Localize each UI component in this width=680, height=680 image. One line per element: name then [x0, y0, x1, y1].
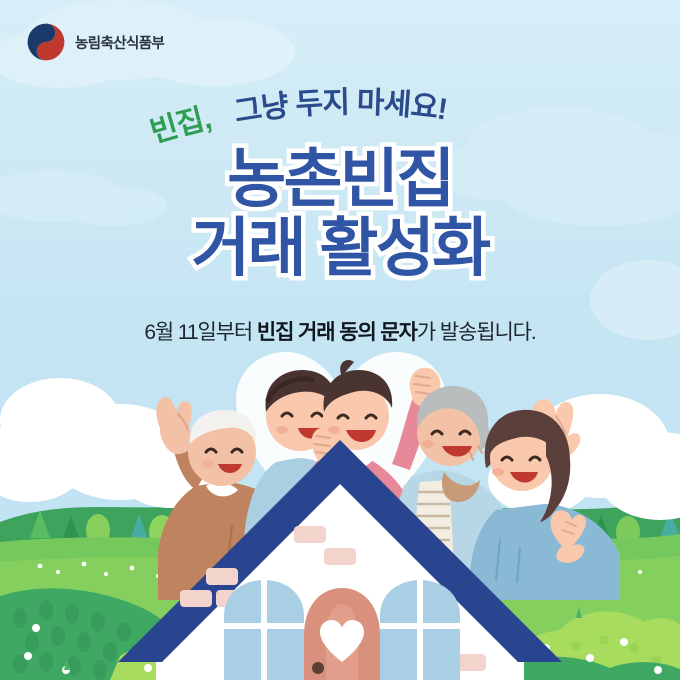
tagline-highlight: 빈집,: [147, 102, 214, 148]
subtitle-suffix: 가 발송됩니다.: [417, 321, 536, 344]
subtitle-bold: 빈집 거래 동의 문자: [257, 321, 417, 344]
window-right: [380, 580, 460, 680]
house-door: [304, 588, 380, 680]
ministry-header: 농림축산식품부: [26, 22, 164, 62]
tagline-highlight-text: 빈집,: [147, 102, 214, 148]
subtitle-prefix: 6월 11일부터: [144, 321, 257, 344]
taeguk-icon: [26, 22, 66, 62]
tagline-rest: 그냥 두지 마세요!: [232, 86, 449, 129]
main-title: 농촌빈집 거래 활성화: [0, 146, 680, 281]
title-line-2: 거래 활성화: [0, 215, 680, 282]
window-left: [224, 580, 304, 680]
title-line-1: 농촌빈집: [0, 146, 680, 213]
subtitle: 6월 11일부터 빈집 거래 동의 문자가 발송됩니다.: [0, 316, 680, 346]
tagline-rest-text: 그냥 두지 마세요!: [232, 86, 449, 129]
ministry-name-label: 농림축산식품부: [75, 32, 164, 53]
poster-canvas: 농림축산식품부 빈집, 그냥 두지 마세요! 농촌빈집 거래 활성화 6월 11…: [0, 0, 680, 680]
tagline-arc: 빈집, 그냥 두지 마세요!: [0, 76, 680, 148]
doorknob-icon: [312, 662, 324, 674]
house-illustration: [118, 440, 562, 680]
